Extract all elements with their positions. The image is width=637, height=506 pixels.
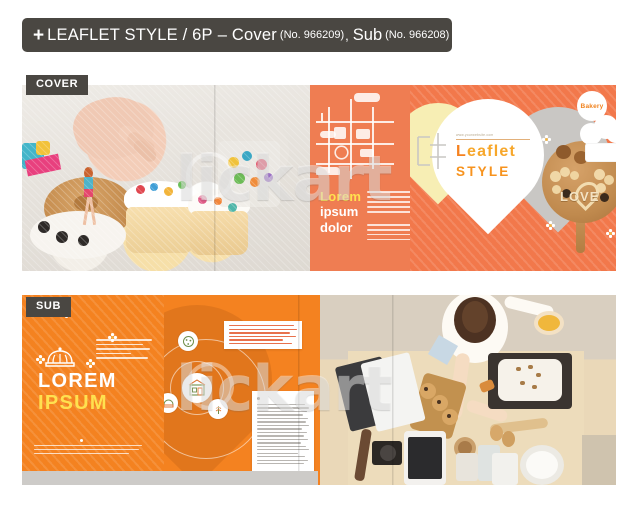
hero-divider [456,139,530,140]
cover-cookie-word: LOVE [560,189,599,204]
cover-badge: COVER [26,75,88,95]
cross-decoration-icon [416,131,450,171]
cover-product-number: (No. 966209) [280,29,344,41]
sub-product-number: (No. 966208) [385,29,449,41]
sub-body-card [252,391,314,479]
sub-sheet-shadow-strip [22,471,318,485]
sub-middle-panel [164,295,320,485]
sub-left-ipsum: IPSUM [38,393,108,413]
cover-hero-title: Leaflet [456,144,548,160]
page-title-bar: + LEAFLET STYLE / 6P – Cover (No. 966209… [22,18,452,52]
screenshot-stage: + LEAFLET STYLE / 6P – Cover (No. 966209… [0,0,637,506]
sub-left-lorem: LOREM [38,371,117,391]
title-main: LEAFLET STYLE / 6P [47,26,213,45]
bakery-building-icon[interactable] [182,373,212,403]
cover-preview-sheet[interactable]: Lorem ipsum dolor [22,85,616,271]
cover-middle-heading: Lorem ipsum dolor [320,189,361,235]
cover-hero-url: www.yourwebsite.com [456,133,548,137]
sub-badge: SUB [26,297,71,317]
cover-hero-subtitle: STYLE [456,165,548,179]
title-cover-label: – Cover [218,26,277,45]
plus-icon: + [33,26,44,45]
wheat-icon[interactable] [208,399,228,419]
cover-middle-panel: Lorem ipsum dolor [310,85,410,271]
cover-middle-dolor: dolor [320,220,361,235]
cover-middle-lorem: Lorem [320,189,361,204]
sub-callout-card [224,321,302,349]
cover-hero-title-rest: eaflet [467,143,516,160]
sub-preview-sheet[interactable]: LOREM IPSUM [22,295,616,485]
cover-hero-text: www.yourwebsite.com Leaflet STYLE [456,133,548,179]
cover-photo-panel [22,85,310,271]
cookie-icon[interactable] [178,331,198,351]
cover-middle-body-text [367,191,410,244]
cake-icon [43,345,77,367]
cover-hero-title-cap: L [456,143,467,160]
sub-left-footer-text [34,445,142,457]
bakery-badge: Bakery [577,91,607,121]
cover-middle-ipsum: ipsum [320,204,361,219]
sub-left-panel: LOREM IPSUM [22,295,164,485]
cover-hero-panel: www.yourwebsite.com Leaflet STYLE Bakery [410,85,616,271]
title-separator: , [345,28,349,43]
sub-photo-panel [320,295,616,485]
bullet-dot [80,439,83,442]
title-sub-label: Sub [353,26,382,45]
chef-hat-icon [578,115,616,165]
sub-left-body-text [96,339,152,362]
